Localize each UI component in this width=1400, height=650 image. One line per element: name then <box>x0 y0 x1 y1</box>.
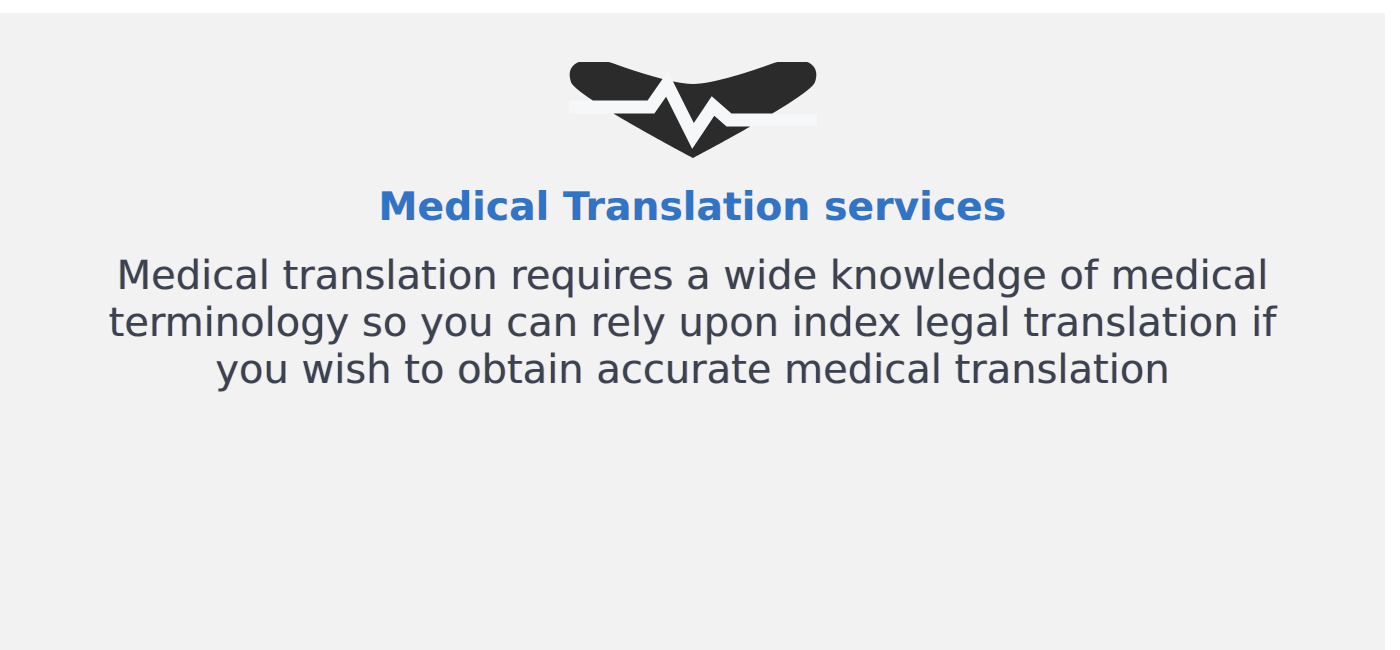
service-description: Medical translation requires a wide know… <box>0 253 1385 394</box>
service-icon-container <box>0 62 1385 162</box>
page-canvas: Medical Translation services Medical tra… <box>0 0 1400 650</box>
heart-pulse-icon <box>567 62 819 158</box>
service-card: Medical Translation services Medical tra… <box>0 13 1385 650</box>
service-title: Medical Translation services <box>0 185 1385 231</box>
service-text-block: Medical Translation services Medical tra… <box>0 185 1385 394</box>
